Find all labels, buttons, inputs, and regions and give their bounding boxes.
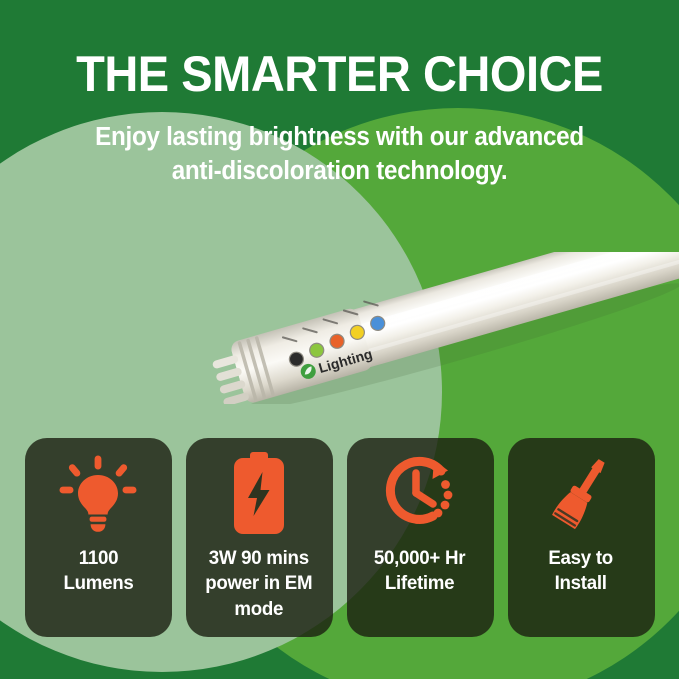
feature-card-em-power-label: 3W 90 mins power in EM mode bbox=[199, 546, 320, 622]
battery-bolt-icon bbox=[228, 442, 290, 546]
indicator-4-icon bbox=[349, 324, 366, 341]
tube-body bbox=[230, 252, 679, 403]
tube-secondary-highlight bbox=[272, 255, 679, 380]
lifetime-line-2: Lifetime bbox=[385, 572, 454, 594]
tube-pins bbox=[212, 354, 250, 404]
indicator-1-icon bbox=[288, 351, 305, 368]
subtitle-line-1: Enjoy lasting brightness with our advanc… bbox=[34, 121, 645, 155]
em-line-1: 3W 90 mins bbox=[209, 547, 309, 569]
product-banner: THE SMARTER CHOICE Enjoy lasting brightn… bbox=[0, 0, 679, 679]
feature-card-lumens-label: 1100 Lumens bbox=[56, 546, 139, 597]
tube-end-cap bbox=[229, 307, 374, 404]
product-brand-lockup: Lighting bbox=[299, 345, 374, 381]
brand-leaf-icon bbox=[299, 362, 318, 381]
feature-card-lifetime[interactable]: 50,000+ Hr Lifetime bbox=[347, 438, 494, 637]
feature-card-lifetime-label: 50,000+ Hr Lifetime bbox=[368, 546, 473, 597]
tube-shadow bbox=[239, 273, 679, 404]
brand-name-text: Lighting bbox=[317, 345, 374, 376]
clock-arrow-icon bbox=[378, 442, 462, 546]
brand-leaf-glyph bbox=[303, 366, 313, 375]
led-tube-product-image: Lighting bbox=[206, 252, 679, 404]
lightbulb-icon bbox=[59, 442, 137, 546]
clock-hands bbox=[416, 473, 433, 504]
install-line-2: Install bbox=[555, 572, 607, 594]
lifetime-line-1: 50,000+ Hr bbox=[374, 547, 465, 569]
clock-arrowhead bbox=[433, 460, 449, 479]
indicator-3-icon bbox=[328, 333, 345, 350]
feature-card-install-label: Easy to Install bbox=[542, 546, 620, 597]
subtitle: Enjoy lasting brightness with our advanc… bbox=[17, 99, 662, 189]
lumens-line-1: 1100 bbox=[78, 547, 117, 569]
feature-card-install[interactable]: Easy to Install bbox=[508, 438, 655, 637]
subtitle-line-2: anti-discoloration technology. bbox=[34, 155, 645, 189]
em-line-2: power in EM bbox=[205, 572, 312, 594]
feature-card-row: 1100 Lumens 3W 90 mins power in EM mode bbox=[0, 438, 679, 638]
screwdriver-icon bbox=[541, 442, 621, 546]
install-line-1: Easy to bbox=[549, 547, 614, 569]
tube-highlight bbox=[265, 252, 679, 358]
status-indicator-group bbox=[278, 296, 390, 368]
lumens-line-2: Lumens bbox=[63, 572, 133, 594]
page-title: THE SMARTER CHOICE bbox=[20, 0, 658, 99]
indicator-2-icon bbox=[308, 342, 325, 359]
indicator-5-icon bbox=[369, 315, 386, 332]
em-line-3: mode bbox=[235, 598, 284, 620]
end-cap-rings bbox=[237, 336, 275, 402]
headline-block: THE SMARTER CHOICE Enjoy lasting brightn… bbox=[0, 0, 679, 189]
feature-card-em-power[interactable]: 3W 90 mins power in EM mode bbox=[186, 438, 333, 637]
feature-card-lumens[interactable]: 1100 Lumens bbox=[25, 438, 172, 637]
